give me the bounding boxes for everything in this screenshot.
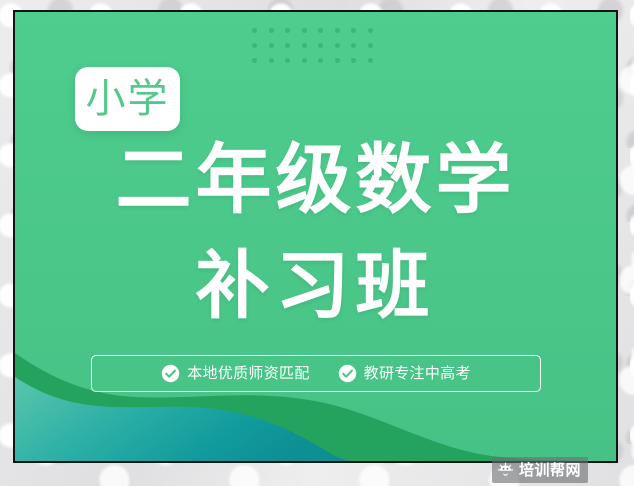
- watermark-text: 培训帮网: [519, 462, 581, 479]
- grid-dot: [318, 58, 323, 63]
- grade-badge: 小学: [75, 67, 180, 131]
- grid-dot: [318, 28, 323, 33]
- headline-line-1: 二年级数学: [15, 138, 616, 222]
- grid-dot: [302, 28, 307, 33]
- sun-face-icon: [497, 462, 514, 479]
- grid-dot: [269, 28, 274, 33]
- check-circle-icon: [338, 364, 357, 383]
- grid-dot: [368, 28, 373, 33]
- check-circle-icon: [161, 364, 180, 383]
- feature-item-1: 本地优质师资匹配: [161, 364, 309, 383]
- grid-dot: [285, 43, 290, 48]
- headline-line-2: 补习班: [15, 244, 616, 328]
- grid-dot: [252, 28, 257, 33]
- grid-dot: [335, 58, 340, 63]
- feature-bar: 本地优质师资匹配 教研专注中高考: [91, 355, 541, 392]
- feature-label-1: 本地优质师资匹配: [187, 364, 309, 383]
- grid-dot: [302, 58, 307, 63]
- grid-dot: [285, 28, 290, 33]
- grid-dot: [269, 43, 274, 48]
- grid-dot: [285, 58, 290, 63]
- grid-dot: [269, 58, 274, 63]
- feature-label-2: 教研专注中高考: [364, 364, 471, 383]
- grid-dot: [252, 43, 257, 48]
- grid-dot: [318, 43, 323, 48]
- grid-dot: [335, 43, 340, 48]
- grid-dot: [351, 28, 356, 33]
- feature-item-2: 教研专注中高考: [338, 364, 471, 383]
- poster-frame: 小学 二年级数学 补习班 本地优质师资匹配 教研专注中高考: [13, 10, 618, 463]
- grid-dot: [351, 43, 356, 48]
- dot-grid-pattern: [252, 28, 379, 68]
- grid-dot: [335, 28, 340, 33]
- grid-dot: [302, 43, 307, 48]
- poster-canvas: 小学 二年级数学 补习班 本地优质师资匹配 教研专注中高考: [15, 12, 616, 461]
- grade-badge-label: 小学: [86, 79, 170, 119]
- grid-dot: [368, 43, 373, 48]
- watermark: 培训帮网: [492, 457, 588, 483]
- grid-dot: [351, 58, 356, 63]
- grid-dot: [368, 58, 373, 63]
- grid-dot: [252, 58, 257, 63]
